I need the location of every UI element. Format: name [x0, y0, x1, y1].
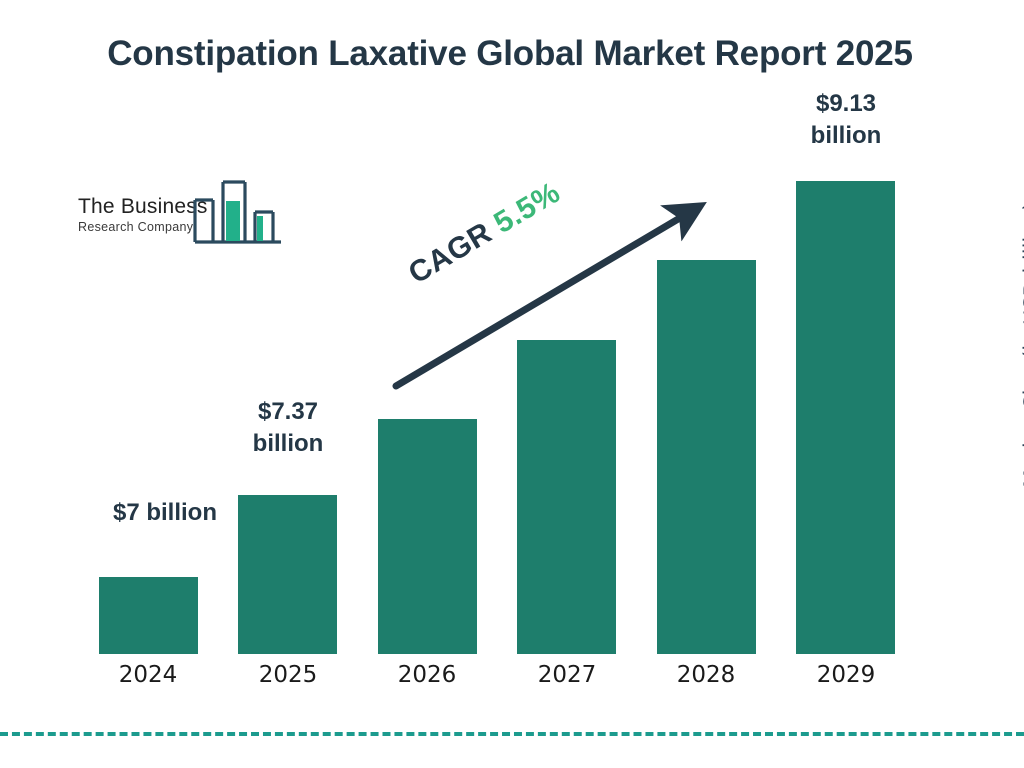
logo-line-2: Research Company [78, 221, 208, 234]
logo-text: The Business Research Company [78, 196, 208, 234]
logo-line-1: The Business [78, 196, 208, 217]
bar-2029 [796, 181, 895, 654]
bar-2024 [99, 577, 198, 654]
bottom-divider [0, 732, 1024, 736]
value-callout-2024-line1: $7 billion [45, 497, 285, 529]
value-callout-2025: $7.37 billion [208, 396, 368, 459]
bar-chart-outline-logo-mark-icon [193, 178, 283, 251]
x-tick-2026: 2026 [357, 662, 497, 688]
x-tick-2027: 2027 [497, 662, 637, 688]
value-callout-2024: $7 billion [45, 497, 285, 529]
value-callout-2029-line1: $9.13 [766, 88, 926, 120]
growth-arrow-icon [380, 190, 710, 400]
x-tick-2025: 2025 [218, 662, 358, 688]
y-axis-title: Market Size (in USD billion) [1020, 180, 1024, 510]
x-tick-2029: 2029 [776, 662, 916, 688]
value-callout-2029-line2: billion [766, 120, 926, 152]
value-callout-2025-line1: $7.37 [208, 396, 368, 428]
value-callout-2025-line2: billion [208, 428, 368, 460]
page-title: Constipation Laxative Global Market Repo… [90, 32, 930, 77]
x-tick-2028: 2028 [636, 662, 776, 688]
chart-page: Constipation Laxative Global Market Repo… [0, 0, 1024, 768]
x-tick-2024: 2024 [78, 662, 218, 688]
value-callout-2029: $9.13 billion [766, 88, 926, 151]
bar-2026 [378, 419, 477, 654]
logo: The Business Research Company [78, 178, 283, 250]
